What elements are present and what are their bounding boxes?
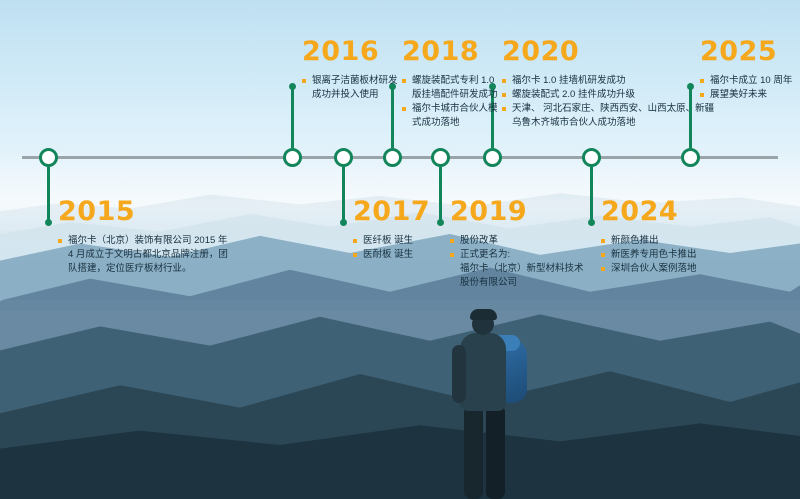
hiker-leg-right bbox=[486, 405, 505, 499]
milestone-lines: 新颜色推出新医养专用色卡推出深圳合伙人案例落地 bbox=[601, 234, 697, 276]
timeline-node-2019[interactable] bbox=[431, 148, 450, 167]
milestone-bullet-item: 螺旋装配式 2.0 挂件成功升级 bbox=[502, 88, 714, 102]
timeline-stem-2024 bbox=[590, 166, 593, 222]
timeline-stem-dot-2015 bbox=[45, 219, 52, 226]
milestone-bullet-item: 福尔卡（北京）装饰有限公司 2015 年 bbox=[58, 234, 228, 248]
timeline-infographic: 2015福尔卡（北京）装饰有限公司 2015 年4 月成立于文明古都北京品牌注册… bbox=[0, 0, 800, 499]
timeline-stem-dot-2024 bbox=[588, 219, 595, 226]
milestone-bullet-continuation: 式成功落地 bbox=[402, 116, 498, 130]
milestone-year-label: 2025 bbox=[700, 38, 792, 65]
milestone-bullet-item: 股份改革 bbox=[450, 234, 584, 248]
milestone-bullet-continuation: 乌鲁木齐城市合伙人成功落地 bbox=[502, 116, 714, 130]
milestone-bullet-item: 福尔卡 1.0 挂墙机研发成功 bbox=[502, 74, 714, 88]
timeline-node-2020[interactable] bbox=[483, 148, 502, 167]
hiker-torso bbox=[460, 333, 506, 411]
milestone-bullet-continuation: 福尔卡（北京）新型材料技术 bbox=[450, 262, 584, 276]
milestone-year-label: 2016 bbox=[302, 38, 398, 65]
milestone-2016: 2016银离子洁菌板材研发成功并投入使用 bbox=[302, 38, 398, 102]
milestone-bullet-item: 新医养专用色卡推出 bbox=[601, 248, 697, 262]
timeline-stem-2015 bbox=[47, 166, 50, 222]
milestone-lines: 福尔卡成立 10 周年展望美好未来 bbox=[700, 74, 792, 102]
hiker-arm bbox=[452, 345, 466, 403]
milestone-bullet-continuation: 版挂墙配件研发成功 bbox=[402, 88, 498, 102]
milestone-2025: 2025福尔卡成立 10 周年展望美好未来 bbox=[700, 38, 792, 102]
milestone-bullet-item: 螺旋装配式专利 1.0 bbox=[402, 74, 498, 88]
timeline-node-2016[interactable] bbox=[283, 148, 302, 167]
milestone-bullet-item: 福尔卡成立 10 周年 bbox=[700, 74, 792, 88]
milestone-lines: 福尔卡（北京）装饰有限公司 2015 年4 月成立于文明古都北京品牌注册，团队搭… bbox=[58, 234, 228, 276]
timeline-stem-2016 bbox=[291, 86, 294, 148]
milestone-lines: 银离子洁菌板材研发成功并投入使用 bbox=[302, 74, 398, 102]
milestone-bullet-item: 正式更名为: bbox=[450, 248, 584, 262]
timeline-node-2025[interactable] bbox=[681, 148, 700, 167]
milestone-year-label: 2019 bbox=[450, 198, 584, 225]
milestone-year-label: 2024 bbox=[601, 198, 697, 225]
milestone-lines: 福尔卡 1.0 挂墙机研发成功螺旋装配式 2.0 挂件成功升级天津、 河北石家庄… bbox=[502, 74, 714, 130]
milestone-year-label: 2015 bbox=[58, 198, 228, 225]
milestone-bullet-continuation: 4 月成立于文明古都北京品牌注册，团 bbox=[58, 248, 228, 262]
milestone-2019: 2019股份改革正式更名为:福尔卡（北京）新型材料技术股份有限公司 bbox=[450, 198, 584, 290]
timeline-stem-dot-2016 bbox=[289, 83, 296, 90]
milestone-bullet-continuation: 股份有限公司 bbox=[450, 276, 584, 290]
milestone-lines: 医纤板 诞生医耐板 诞生 bbox=[353, 234, 430, 262]
timeline-node-2018[interactable] bbox=[383, 148, 402, 167]
milestone-2017: 2017医纤板 诞生医耐板 诞生 bbox=[353, 198, 430, 262]
milestone-year-label: 2017 bbox=[353, 198, 430, 225]
timeline-stem-dot-2017 bbox=[340, 219, 347, 226]
milestone-year-label: 2020 bbox=[502, 38, 714, 65]
milestone-2020: 2020福尔卡 1.0 挂墙机研发成功螺旋装配式 2.0 挂件成功升级天津、 河… bbox=[502, 38, 714, 130]
hiker-cap bbox=[470, 309, 497, 320]
milestone-bullet-item: 医纤板 诞生 bbox=[353, 234, 430, 248]
milestone-bullet-item: 医耐板 诞生 bbox=[353, 248, 430, 262]
milestone-bullet-item: 银离子洁菌板材研发 bbox=[302, 74, 398, 88]
milestone-2018: 2018螺旋装配式专利 1.0版挂墙配件研发成功福尔卡城市合伙人模式成功落地 bbox=[402, 38, 498, 130]
timeline-node-2015[interactable] bbox=[39, 148, 58, 167]
milestone-lines: 螺旋装配式专利 1.0版挂墙配件研发成功福尔卡城市合伙人模式成功落地 bbox=[402, 74, 498, 130]
hiker-silhouette bbox=[432, 305, 542, 499]
milestone-bullet-item: 天津、 河北石家庄、陕西西安、山西太原、新疆 bbox=[502, 102, 714, 116]
timeline-stem-dot-2019 bbox=[437, 219, 444, 226]
milestone-bullet-item: 福尔卡城市合伙人模 bbox=[402, 102, 498, 116]
timeline-node-2017[interactable] bbox=[334, 148, 353, 167]
hiker-leg-left bbox=[464, 405, 483, 499]
milestone-year-label: 2018 bbox=[402, 38, 498, 65]
milestone-bullet-item: 新颜色推出 bbox=[601, 234, 697, 248]
milestone-bullet-item: 深圳合伙人案例落地 bbox=[601, 262, 697, 276]
timeline-stem-2017 bbox=[342, 166, 345, 222]
timeline-node-2024[interactable] bbox=[582, 148, 601, 167]
milestone-bullet-continuation: 队搭建，定位医疗板材行业。 bbox=[58, 262, 228, 276]
milestone-2015: 2015福尔卡（北京）装饰有限公司 2015 年4 月成立于文明古都北京品牌注册… bbox=[58, 198, 228, 276]
milestone-2024: 2024新颜色推出新医养专用色卡推出深圳合伙人案例落地 bbox=[601, 198, 697, 276]
timeline-stem-2019 bbox=[439, 166, 442, 222]
milestone-bullet-continuation: 成功并投入使用 bbox=[302, 88, 398, 102]
milestone-lines: 股份改革正式更名为:福尔卡（北京）新型材料技术股份有限公司 bbox=[450, 234, 584, 290]
milestone-bullet-item: 展望美好未来 bbox=[700, 88, 792, 102]
